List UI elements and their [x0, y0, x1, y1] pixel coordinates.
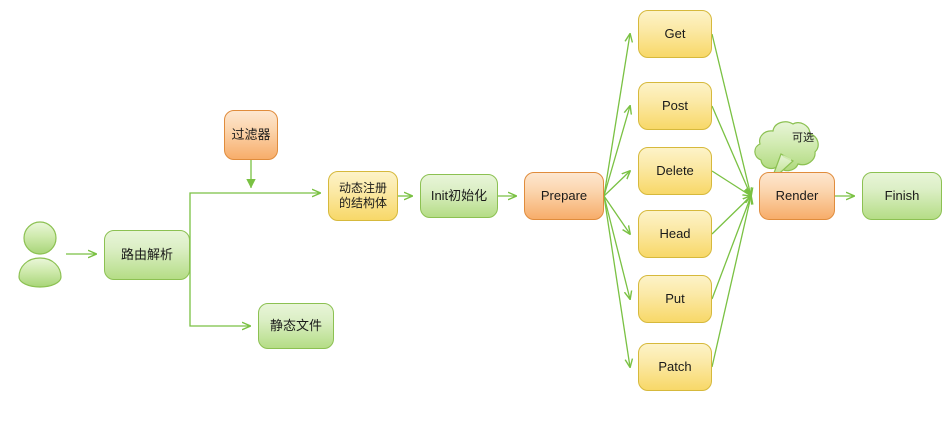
node-render[interactable]: Render: [759, 172, 835, 220]
node-init[interactable]: Init初始化: [420, 174, 498, 218]
node-dynamic-struct[interactable]: 动态注册 的结构体: [328, 171, 398, 221]
node-prepare[interactable]: Prepare: [524, 172, 604, 220]
optional-cloud-label: 可选: [770, 125, 836, 149]
node-route-parse[interactable]: 路由解析: [104, 230, 190, 280]
node-static-file[interactable]: 静态文件: [258, 303, 334, 349]
node-patch[interactable]: Patch: [638, 343, 712, 391]
user-icon: [19, 222, 61, 287]
node-delete[interactable]: Delete: [638, 147, 712, 195]
node-head[interactable]: Head: [638, 210, 712, 258]
node-finish[interactable]: Finish: [862, 172, 942, 220]
node-filter[interactable]: 过滤器: [224, 110, 278, 160]
node-put[interactable]: Put: [638, 275, 712, 323]
edge-layer: [0, 0, 951, 448]
node-post[interactable]: Post: [638, 82, 712, 130]
diagram-canvas: 路由解析 过滤器 静态文件 动态注册 的结构体 Init初始化 Prepare …: [0, 0, 951, 448]
node-get[interactable]: Get: [638, 10, 712, 58]
